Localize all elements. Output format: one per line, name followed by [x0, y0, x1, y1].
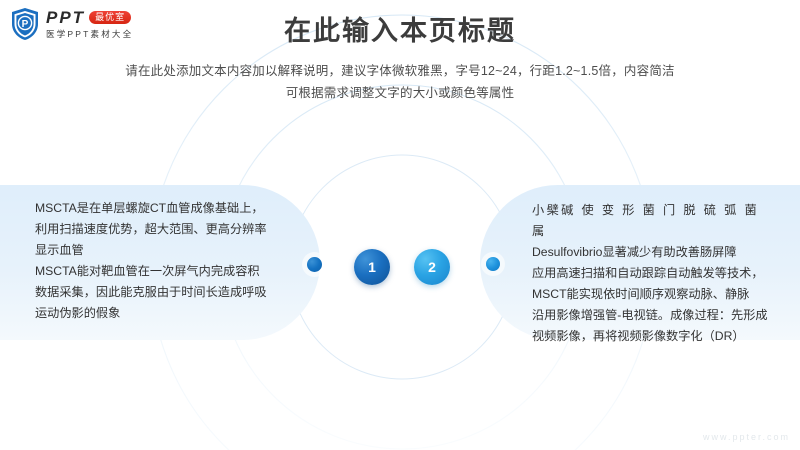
step-node-1[interactable]: 1 [354, 249, 390, 285]
right-paragraph-2: Desulfovibrio显著减少有助改善肠屏障 [532, 242, 778, 263]
connector-dot-left [307, 257, 322, 272]
right-panel-text: 小檗碱 使 变 形 菌 门 脱 硫 弧 菌 属 Desulfovibrio显著减… [532, 200, 778, 347]
right-paragraph-1: 小檗碱 使 变 形 菌 门 脱 硫 弧 菌 属 [532, 200, 778, 242]
left-paragraph-1: MSCTA是在单层螺旋CT血管成像基础上，利用扫描速度优势，超大范围、更高分辨率… [35, 198, 270, 261]
page-subtitle-line-2: 可根据需求调整文字的大小或颜色等属性 [0, 82, 800, 104]
page-subtitle-line-1: 请在此处添加文本内容加以解释说明，建议字体微软雅黑，字号12~24，行距1.2~… [0, 60, 800, 82]
right-paragraph-4: 沿用影像增强管-电视链。成像过程：先形成视频影像，再将视频影像数字化（DR） [532, 305, 778, 347]
connector-dot-right [486, 257, 500, 271]
page-title: 在此输入本页标题 [0, 14, 800, 48]
step-node-2[interactable]: 2 [414, 249, 450, 285]
left-panel-text: MSCTA是在单层螺旋CT血管成像基础上，利用扫描速度优势，超大范围、更高分辨率… [35, 198, 270, 324]
slide-canvas: P PPT 最优室 医学PPT素材大全 在此输入本页标题 请在此处添加文本内容加… [0, 0, 800, 450]
site-watermark: www.ppter.com [703, 432, 790, 442]
right-paragraph-3: 应用高速扫描和自动跟踪自动触发等技术，MSCT能实现依时间顺序观察动脉、静脉 [532, 263, 778, 305]
left-paragraph-2: MSCTA能对靶血管在一次屏气内完成容积数据采集，因此能克服由于时间长造成呼吸运… [35, 261, 270, 324]
